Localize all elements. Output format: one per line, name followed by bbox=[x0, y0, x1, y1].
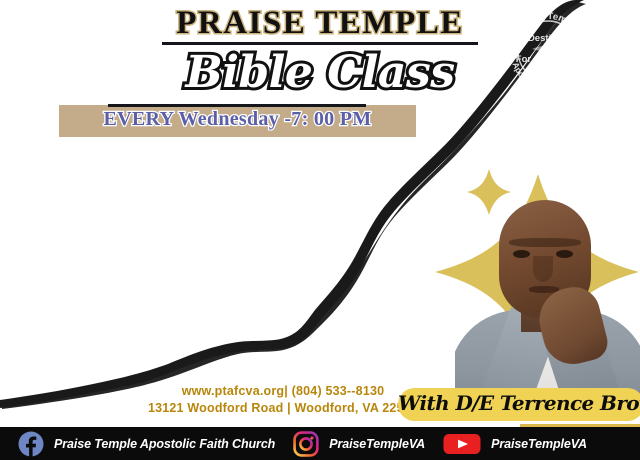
youtube-icon[interactable] bbox=[443, 431, 481, 457]
schedule-text: EVERY Wednesday -7: 00 PM bbox=[59, 108, 416, 131]
instagram-icon[interactable] bbox=[293, 431, 319, 457]
social-instagram[interactable]: PraiseTempleVA bbox=[293, 431, 425, 457]
social-youtube[interactable]: PraiseTempleVA bbox=[443, 431, 587, 457]
church-seal-logo: Praise Temple Apostolic Faith Church Des… bbox=[502, 5, 594, 97]
logo-arc-top-text: Praise Temple bbox=[514, 11, 582, 34]
social-footer-bar: Praise Temple Apostolic Faith Church Pra… bbox=[0, 427, 640, 460]
portrait-eye-left bbox=[513, 250, 530, 258]
facebook-handle[interactable]: Praise Temple Apostolic Faith Church bbox=[54, 437, 275, 451]
schedule-band-rule bbox=[108, 104, 366, 107]
social-facebook[interactable]: Praise Temple Apostolic Faith Church bbox=[18, 431, 275, 457]
speaker-name: With D/E Terrence Brown bbox=[398, 391, 640, 415]
facebook-icon[interactable] bbox=[18, 431, 44, 457]
portrait-eye-right bbox=[556, 250, 573, 258]
instagram-handle[interactable]: PraiseTempleVA bbox=[329, 437, 425, 451]
portrait-nose bbox=[533, 256, 553, 282]
speaker-portrait bbox=[455, 192, 640, 407]
flyer-canvas: PRAISE TEMPLE Bible Class EVERY Wednesda… bbox=[0, 0, 640, 460]
logo-center-line1: Destined bbox=[528, 33, 568, 44]
title-underline-rule bbox=[162, 42, 478, 45]
logo-center-line2: For Greatness bbox=[516, 54, 580, 65]
portrait-brow bbox=[509, 238, 581, 247]
svg-text:Praise Temple: Praise Temple bbox=[514, 11, 582, 34]
youtube-handle[interactable]: PraiseTempleVA bbox=[491, 437, 587, 451]
